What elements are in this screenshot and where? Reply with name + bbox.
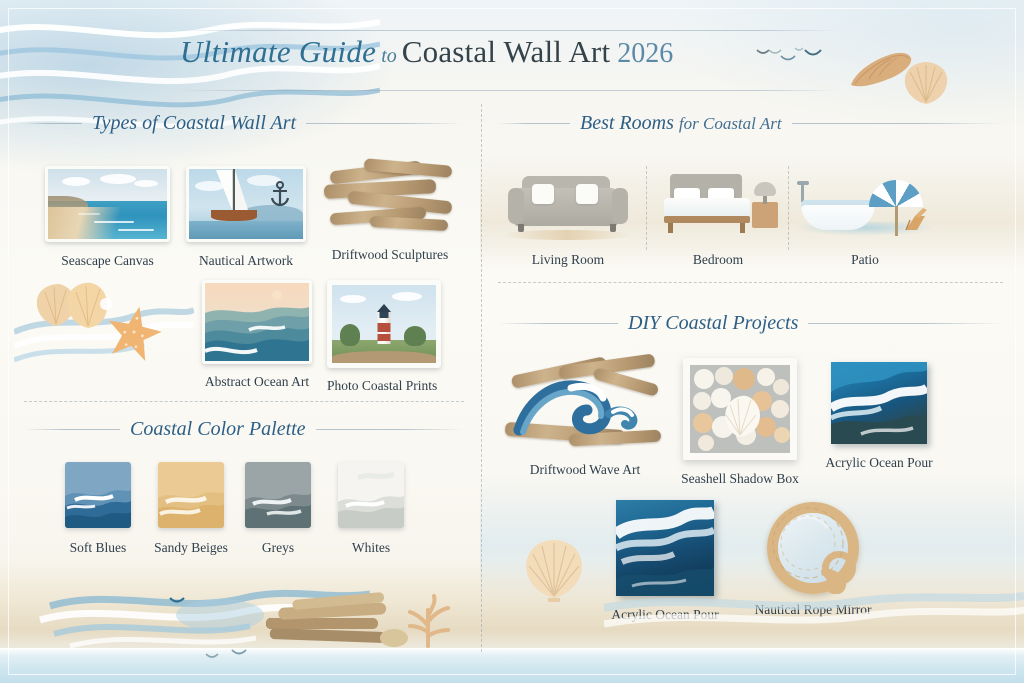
item-label: Patio	[795, 252, 935, 268]
item-label: Bedroom	[652, 252, 784, 268]
item-patio[interactable]: Patio	[795, 170, 935, 268]
header-rule-top	[178, 30, 838, 31]
section-heading-diy-label: DIY Coastal Projects	[628, 312, 798, 335]
item-driftwood-wave-art[interactable]: Driftwood Wave Art	[505, 352, 665, 478]
item-label: Acrylic Ocean Pour	[820, 455, 938, 471]
bottom-left-decoration	[30, 570, 480, 665]
seagull-marks-icon	[755, 40, 835, 70]
item-label: Photo Coastal Prints	[327, 378, 437, 394]
nautical-artwork-thumbnail	[186, 166, 306, 242]
section-heading-rooms: Best Rooms for Coastal Art	[498, 112, 1003, 135]
room-divider-1	[646, 166, 647, 250]
column-divider	[481, 104, 482, 652]
item-label: Abstract Ocean Art	[202, 374, 312, 390]
abstract-ocean-art-thumbnail	[202, 280, 312, 364]
swatch-greys[interactable]: Greys	[238, 462, 318, 556]
title-connector: to	[376, 45, 402, 67]
item-label: Driftwood Sculptures	[320, 247, 460, 263]
title-main-part: Coastal Wall Art	[402, 34, 611, 69]
seashell-shadow-box-illustration	[683, 358, 797, 460]
section-heading-types: Types of Coastal Wall Art	[24, 112, 464, 135]
item-photo-coastal-prints[interactable]: Photo Coastal Prints	[327, 280, 437, 394]
swatch-color-greys	[245, 462, 311, 528]
right-bottom-waves	[604, 580, 1024, 660]
swatch-sandy-beiges[interactable]: Sandy Beiges	[151, 462, 231, 556]
lighthouse-photo-print-thumbnail	[327, 280, 441, 368]
infographic-canvas: Ultimate GuidetoCoastal Wall Art2026 Typ…	[0, 0, 1024, 683]
item-label: Seashell Shadow Box	[678, 471, 802, 487]
deck-chair-icon	[903, 206, 929, 232]
swatch-color-whites	[338, 462, 404, 528]
swatch-whites[interactable]: Whites	[331, 462, 411, 556]
driftwood-sculpture-illustration	[320, 160, 460, 238]
section-heading-diy: DIY Coastal Projects	[498, 312, 1003, 335]
rooms-heading-main: Best Rooms	[580, 112, 674, 134]
item-label: Living Room	[500, 252, 636, 268]
item-abstract-ocean-art[interactable]: Abstract Ocean Art	[202, 280, 312, 390]
swatch-label: Greys	[238, 540, 318, 556]
right-section-divider	[498, 282, 1003, 283]
item-driftwood-sculptures[interactable]: Driftwood Sculptures	[320, 160, 460, 263]
item-label: Nautical Artwork	[186, 253, 306, 269]
driftwood-wave-illustration	[505, 352, 665, 456]
item-acrylic-ocean-pour-top[interactable]: Acrylic Ocean Pour	[820, 362, 938, 471]
item-label: Driftwood Wave Art	[505, 462, 665, 478]
header-rule-bottom	[178, 90, 838, 91]
swatch-label: Whites	[331, 540, 411, 556]
section-heading-palette-label: Coastal Color Palette	[130, 418, 306, 441]
anchor-icon	[269, 181, 291, 207]
section-heading-rooms-label: Best Rooms for Coastal Art	[580, 112, 782, 135]
title-year: 2026	[610, 38, 673, 69]
room-divider-2	[788, 166, 789, 250]
page-title: Ultimate GuidetoCoastal Wall Art2026	[180, 34, 673, 70]
rooms-heading-sub: for Coastal Art	[679, 114, 782, 133]
scallop-shell-decoration	[518, 536, 590, 602]
swatch-color-sandy-beiges	[158, 462, 224, 528]
item-seashell-shadow-box[interactable]: Seashell Shadow Box	[678, 358, 802, 487]
title-italic-part: Ultimate Guide	[180, 34, 376, 69]
item-label: Seascape Canvas	[45, 253, 170, 269]
left-section-divider	[24, 401, 464, 402]
swatch-label: Sandy Beiges	[151, 540, 231, 556]
swatch-soft-blues[interactable]: Soft Blues	[58, 462, 138, 556]
bathtub-umbrella-icon	[795, 170, 935, 242]
scallop-shell-icon	[900, 60, 952, 106]
item-seascape-canvas[interactable]: Seascape Canvas	[45, 166, 170, 269]
swatch-color-soft-blues	[65, 462, 131, 528]
acrylic-ocean-pour-canvas	[831, 362, 927, 444]
sofa-icon	[500, 170, 636, 242]
bed-icon	[652, 170, 784, 242]
item-bedroom[interactable]: Bedroom	[652, 170, 784, 268]
seascape-canvas-thumbnail	[45, 166, 170, 242]
item-living-room[interactable]: Living Room	[500, 170, 636, 268]
shells-starfish-decoration	[14, 272, 194, 382]
section-heading-types-label: Types of Coastal Wall Art	[92, 112, 296, 135]
section-heading-palette: Coastal Color Palette	[24, 418, 464, 441]
swatch-label: Soft Blues	[58, 540, 138, 556]
item-nautical-artwork[interactable]: Nautical Artwork	[186, 166, 306, 269]
